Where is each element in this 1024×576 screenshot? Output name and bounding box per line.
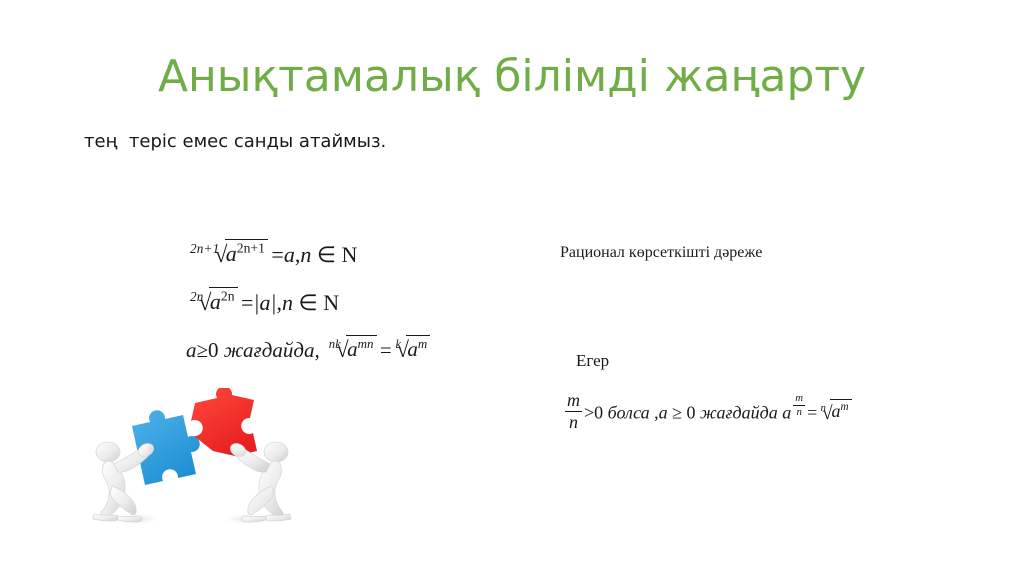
radicand-exponent: mn [358, 336, 374, 351]
formula-rational-exponent: mn>0 болса ,a ≥ 0 жағдайда amn=n√am [563, 391, 854, 432]
label-eger: Егер [576, 351, 609, 371]
radicand: a2n [209, 287, 238, 315]
equals-sign: = [380, 338, 392, 362]
set-n: N [323, 290, 339, 315]
word-bolsa: болса [608, 403, 650, 423]
radicand-base: a [407, 337, 418, 361]
exponent-denominator: n [793, 406, 805, 418]
condition-value: 0 [687, 403, 696, 423]
variable-n: n [300, 242, 311, 267]
slide-canvas: Анықтамалық білімді жаңарту тең теріс ем… [0, 0, 1024, 576]
radical-expression-right: k√am [392, 336, 434, 363]
slide-subtitle: тең теріс емес санды атаймыз. [84, 131, 386, 153]
formula-root-odd: 2n+1√a2n+1 =a,n ∈ N [186, 240, 357, 269]
radical-expression: 2n+1√a2n+1 [186, 240, 271, 269]
condition-value: 0 [208, 338, 219, 362]
radicand-exponent: 2n [221, 288, 235, 303]
condition-variable: a [659, 403, 668, 423]
radicand-exponent: 2n+1 [237, 240, 265, 255]
equals-sign: = [271, 242, 283, 267]
radicand-base: a [347, 337, 358, 361]
exponent-fraction: mn [793, 393, 805, 419]
variable-n: n [282, 290, 293, 315]
radicand: am [830, 399, 851, 422]
radical-expression: 2n√a2n [186, 288, 241, 317]
comma: , [314, 338, 319, 362]
radical-expression-left: nk√amn [325, 336, 380, 363]
condition-word: жағдайда [224, 338, 315, 362]
puzzle-piece-red [191, 388, 257, 456]
greater-equal-sign: ≥ [197, 338, 209, 362]
greater-equal-sign: ≥ [672, 403, 682, 423]
exponent-numerator: m [793, 393, 805, 406]
figure-right [228, 441, 291, 522]
element-of-sign: ∈ [317, 242, 336, 267]
formula-root-reduction: a≥0 жағдайда, nk√amn=k√am [186, 336, 434, 363]
element-of-sign: ∈ [299, 290, 318, 315]
puzzle-teamwork-image [88, 388, 294, 536]
puzzle-illustration-svg [88, 388, 294, 536]
equals-sign: = [241, 290, 253, 315]
radicand-exponent: m [840, 401, 848, 413]
comparison-value: 0 [594, 403, 603, 423]
greater-than-sign: > [584, 403, 594, 423]
radicand-exponent: m [418, 336, 427, 351]
condition-word: жағдайда [700, 403, 778, 423]
section-heading-rational-exponent: Рационал көрсеткішті дәреже [560, 244, 762, 262]
condition-variable: a [186, 338, 197, 362]
radicand-base: a [226, 241, 237, 266]
set-n: N [342, 242, 358, 267]
fraction-numerator: m [565, 391, 582, 412]
formula-root-even: 2n√a2n =|a|,n ∈ N [186, 288, 339, 317]
radicand: amn [346, 335, 376, 362]
radical-expression: n√am [817, 401, 854, 425]
equals-sign: = [807, 403, 817, 423]
radicand: am [406, 335, 430, 362]
page-title: Анықтамалық білімді жаңарту [0, 52, 1024, 103]
radicand: a2n+1 [225, 239, 268, 267]
power-base: a [782, 403, 791, 423]
fraction-m-over-n: mn [565, 391, 582, 432]
fraction-denominator: n [565, 412, 582, 432]
right-hand-side: a [284, 242, 295, 267]
radicand-base: a [210, 289, 221, 314]
absolute-value-a: |a| [253, 290, 276, 315]
